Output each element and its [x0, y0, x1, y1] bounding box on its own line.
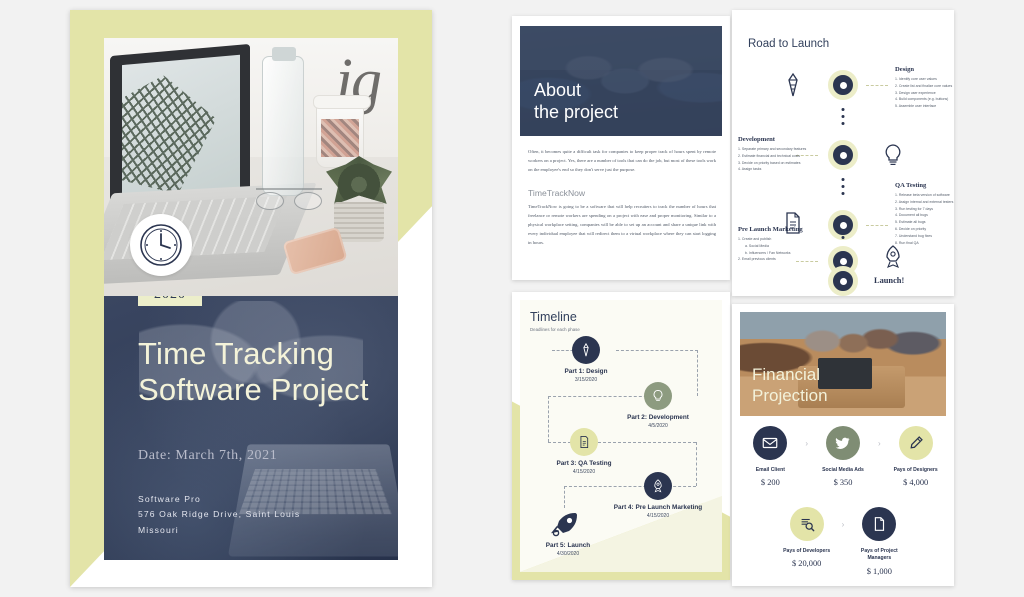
photo-cup-contents — [321, 119, 359, 157]
financial-item-label: Pays of Project Managers — [849, 548, 909, 562]
financial-title-line-2: Projection — [752, 386, 828, 406]
road-item: 2. Assign internal and external testers — [895, 199, 953, 206]
road-section-qa: QA Testing 1. Release beta version of so… — [895, 182, 953, 247]
timeline-step-date: 4/15/2020 — [536, 469, 632, 475]
road-section-list: 1. Create and publish a. Social Media b.… — [738, 236, 804, 263]
address-line-1: 576 Oak Ridge Drive, Saint Louis — [138, 507, 348, 522]
road-section-development: Development 1. Separate primary and seco… — [738, 136, 800, 173]
timeline-step-1: Part 1: Design 3/15/2020 — [538, 368, 634, 383]
road-section-heading: QA Testing — [895, 182, 953, 189]
year-badge: 2020 — [138, 296, 202, 306]
financial-item-label: Pays of Designers — [886, 467, 946, 474]
page-title: Time Tracking Software Project — [138, 336, 376, 408]
timeline-line-3v — [696, 442, 697, 486]
timeline-step-3: Part 3: QA Testing 4/15/2020 — [536, 460, 632, 475]
road-item: 1. Separate primary and secondary featur… — [738, 146, 800, 153]
road-section-marketing: Pre Launch Marketing 1. Create and publi… — [738, 226, 804, 263]
road-section-list: 1. Release beta version of software 2. A… — [895, 192, 953, 247]
timeline-step-label: Part 2: Development — [610, 414, 706, 422]
road-dots-1 — [842, 108, 845, 125]
timeline-line-4 — [564, 486, 696, 487]
photo-laptop-lid — [110, 44, 250, 211]
financial-projection-page[interactable]: Financial Projection Email Client $ 200 … — [732, 304, 954, 586]
pen-icon — [776, 68, 810, 102]
road-node-launch — [828, 266, 858, 296]
road-item: 1. Identify core user values — [895, 76, 953, 83]
launch-label: Launch! — [874, 276, 904, 285]
envelope-icon — [753, 426, 787, 460]
financial-items: Email Client $ 200 › Social Media Ads $ … — [732, 426, 954, 576]
financial-item-value: $ 1,000 — [849, 567, 909, 576]
pen-icon — [899, 426, 933, 460]
about-title-line-1: About — [534, 80, 618, 102]
desk-photo: ig — [104, 38, 398, 296]
photo-water-bottle — [262, 56, 304, 196]
cover-page[interactable]: ig — [70, 10, 432, 587]
financial-item-pays-of-project-managers[interactable]: Pays of Project Managers $ 1,000 — [849, 507, 909, 575]
road-item: 5. Estimate all bugs — [895, 219, 953, 226]
chevron-right-icon: › — [842, 520, 845, 529]
timeline-step-5: Part 5: Launch 4/30/2020 — [520, 542, 616, 557]
road-item: 1. Release beta version of software — [895, 192, 953, 199]
road-item: b. Influencers / Fan Networks — [738, 250, 804, 257]
road-item: 6. Decide on priority — [895, 226, 953, 233]
photo-eyeglasses — [256, 188, 322, 210]
about-paragraph-1: Often, it becomes quite a difficult task… — [528, 148, 716, 175]
cover-title-line-1: Time Tracking — [138, 336, 376, 372]
timeline-page[interactable]: Timeline Deadlines for each phase Part 1… — [512, 292, 730, 580]
palm-leaf-graphic — [122, 70, 226, 198]
road-to-launch-page[interactable]: Road to Launch — [732, 10, 954, 296]
succulent-pot — [334, 202, 384, 242]
road-section-design: Design 1. Identify core user values 2. C… — [895, 66, 953, 110]
timeline-line-1 — [616, 350, 698, 351]
timeline-title: Timeline — [530, 310, 577, 324]
timeline-node-1 — [572, 336, 600, 364]
cover-title-block: 2020 Time Tracking Software Project Date… — [104, 296, 398, 560]
slide-deck-overview: ig — [0, 0, 1024, 597]
road-section-heading: Pre Launch Marketing — [738, 226, 804, 233]
photo-laptop-screen — [122, 55, 240, 198]
financial-item-value: $ 20,000 — [777, 559, 837, 568]
timeline-line-2v — [548, 396, 549, 442]
road-diagram: Design 1. Identify core user values 2. C… — [732, 54, 954, 296]
road-connector-qa — [866, 225, 888, 226]
timeline-step-label: Part 1: Design — [538, 368, 634, 376]
about-title-line-2: the project — [534, 102, 618, 124]
cover-date: Date: March 7th, 2021 — [138, 448, 277, 464]
financial-item-pays-of-designers[interactable]: Pays of Designers $ 4,000 — [886, 426, 946, 487]
about-title: About the project — [534, 80, 618, 124]
road-item: 4. Assign tasks — [738, 166, 800, 173]
timeline-node-4 — [644, 472, 672, 500]
chevron-right-icon: › — [805, 439, 808, 448]
timeline-step-date: 4/30/2020 — [520, 551, 616, 557]
timeline-step-2: Part 2: Development 4/5/2020 — [610, 414, 706, 429]
financial-item-value: $ 200 — [740, 478, 800, 487]
timeline-step-4: Part 4: Pre Launch Marketing 4/15/2020 — [610, 504, 706, 519]
about-page[interactable]: About the project Often, it becomes quit… — [512, 16, 730, 280]
road-section-heading: Development — [738, 136, 800, 143]
road-item: 3. Decide on priority based on estimates — [738, 160, 800, 167]
about-hero-image: About the project — [520, 26, 722, 136]
road-item: 2. Estimate financial and technical cost… — [738, 153, 800, 160]
timeline-subtitle: Deadlines for each phase — [530, 327, 580, 332]
road-item: 1. Create and publish — [738, 236, 804, 243]
financial-hero-image: Financial Projection — [740, 312, 946, 416]
address-line-2: Missouri — [138, 523, 348, 538]
about-paragraph-2: TimeTrackNow is going to be a software t… — [528, 203, 716, 248]
bird-icon — [826, 426, 860, 460]
timeline-step-label: Part 3: QA Testing — [536, 460, 632, 468]
financial-item-value: $ 4,000 — [886, 478, 946, 487]
road-item: 4. Document all bugs — [895, 212, 953, 219]
cover-address: Software Pro 576 Oak Ridge Drive, Saint … — [138, 492, 348, 538]
succulent-leaves — [326, 156, 392, 208]
timeline-step-label: Part 4: Pre Launch Marketing — [610, 504, 706, 512]
timeline-line-1v — [697, 350, 698, 396]
financial-title: Financial Projection — [752, 365, 828, 406]
cover-title-line-2: Software Project — [138, 372, 376, 408]
financial-item-label: Email Client — [740, 467, 800, 474]
road-section-list: 1. Identify core user values 2. Create l… — [895, 76, 953, 110]
search-icon — [790, 507, 824, 541]
financial-item-social-media-ads[interactable]: Social Media Ads $ 350 — [813, 426, 873, 487]
road-item: a. Social Media — [738, 243, 804, 250]
timeline-step-date: 4/5/2020 — [610, 423, 706, 429]
road-section-heading: Design — [895, 66, 953, 73]
about-body: Often, it becomes quite a difficult task… — [528, 148, 716, 248]
document-icon — [862, 507, 896, 541]
financial-item-email-client[interactable]: Email Client $ 200 — [740, 426, 800, 487]
road-node-design — [828, 70, 858, 100]
road-title: Road to Launch — [748, 38, 829, 50]
chevron-right-icon: › — [878, 439, 881, 448]
financial-row-2: Pays of Developers $ 20,000 › Pays of Pr… — [732, 507, 954, 575]
financial-item-pays-of-developers[interactable]: Pays of Developers $ 20,000 — [777, 507, 837, 568]
about-subtitle: TimeTrackNow — [528, 188, 716, 198]
cover-content: ig — [104, 38, 398, 560]
road-section-list: 1. Separate primary and secondary featur… — [738, 146, 800, 173]
road-item: 7. Understand bug fixes — [895, 233, 953, 240]
road-node-development — [828, 140, 858, 170]
financial-item-label: Pays of Developers — [777, 548, 837, 555]
company-name: Software Pro — [138, 492, 348, 507]
road-item: 2. Create list and finalize core values — [895, 83, 953, 90]
road-item: 5. Assemble user interface — [895, 103, 953, 110]
bulb-icon — [876, 138, 910, 172]
road-connector-design — [866, 85, 888, 86]
timeline-line-4v — [564, 486, 565, 508]
financial-item-value: $ 350 — [813, 478, 873, 487]
financial-row-1: Email Client $ 200 › Social Media Ads $ … — [732, 426, 954, 487]
clock-icon — [130, 214, 192, 276]
financial-title-line-1: Financial — [752, 365, 828, 385]
road-dots-3 — [842, 236, 845, 239]
financial-item-label: Social Media Ads — [813, 467, 873, 474]
road-item: 3. Run testing for 7 days — [895, 206, 953, 213]
road-item: 3. Design user experience — [895, 90, 953, 97]
road-item: 2. Email previous clients — [738, 256, 804, 263]
road-dots-2 — [842, 178, 845, 195]
rocket-icon — [876, 240, 910, 274]
timeline-step-date: 4/15/2020 — [610, 513, 706, 519]
timeline-node-2 — [644, 382, 672, 410]
timeline-step-date: 3/15/2020 — [538, 377, 634, 383]
road-item: 4. Build components (e.g. buttons) — [895, 96, 953, 103]
timeline-node-3 — [570, 428, 598, 456]
timeline-step-label: Part 5: Launch — [520, 542, 616, 550]
